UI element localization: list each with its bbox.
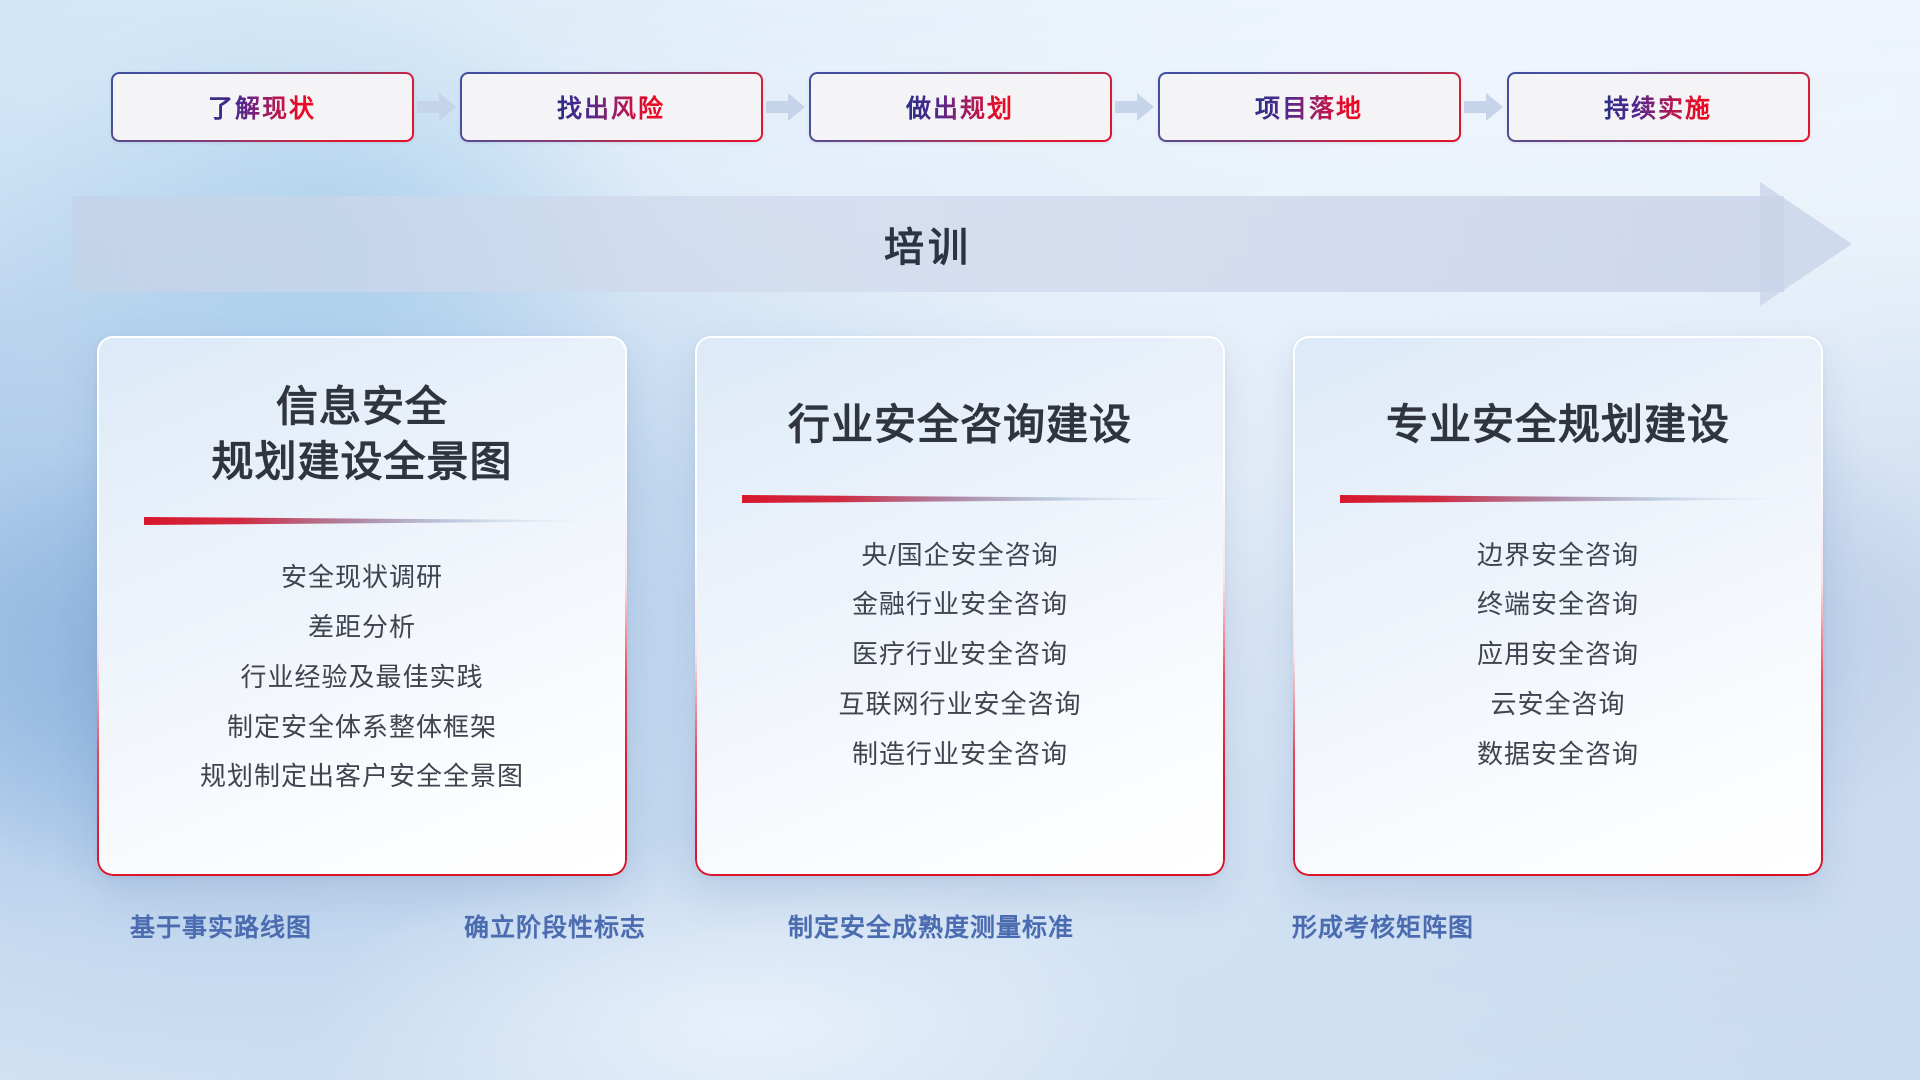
card-item-list: 央/国企安全咨询 金融行业安全咨询 医疗行业安全咨询 互联网行业安全咨询 制造行… (838, 539, 1081, 772)
card-divider (1336, 493, 1780, 505)
arrow-right-icon (763, 72, 809, 142)
list-item: 云安全咨询 (1490, 688, 1625, 722)
step-label-4: 项目落地 (1255, 89, 1363, 125)
footer-label-3: 制定安全成熟度测量标准 (788, 908, 1074, 944)
list-item: 安全现状调研 (281, 561, 443, 595)
list-item: 金融行业安全咨询 (852, 588, 1068, 622)
list-item: 终端安全咨询 (1477, 588, 1639, 622)
step-label-5: 持续实施 (1604, 89, 1712, 125)
step-box-2[interactable]: 找出风险 (460, 72, 763, 142)
card-title: 信息安全 规划建设全景图 (211, 380, 512, 489)
arrow-right-icon (1112, 72, 1158, 142)
footer-label-row: 基于事实路线图 确立阶段性标志 制定安全成熟度测量标准 形成考核矩阵图 (0, 908, 1920, 956)
list-item: 规划制定出客户安全全景图 (200, 760, 524, 794)
panorama-card[interactable]: 信息安全 规划建设全景图 安全现状调研 (97, 336, 627, 876)
footer-label-2: 确立阶段性标志 (464, 908, 646, 944)
list-item: 边界安全咨询 (1477, 539, 1639, 573)
step-box-4[interactable]: 项目落地 (1158, 72, 1461, 142)
list-item: 互联网行业安全咨询 (838, 688, 1081, 722)
step-box-5[interactable]: 持续实施 (1507, 72, 1810, 142)
card-row: 信息安全 规划建设全景图 安全现状调研 (0, 336, 1920, 876)
step-box-1[interactable]: 了解现状 (111, 72, 414, 142)
list-item: 制定安全体系整体框架 (227, 711, 497, 745)
banner-title: 培训 (72, 196, 1784, 292)
card-item-list: 安全现状调研 差距分析 行业经验及最佳实践 制定安全体系整体框架 规划制定出客户… (200, 561, 524, 794)
card-item-list: 边界安全咨询 终端安全咨询 应用安全咨询 云安全咨询 数据安全咨询 (1477, 539, 1639, 772)
industry-consulting-card[interactable]: 行业安全咨询建设 央/国企安全咨询 (695, 336, 1225, 876)
card-divider (140, 515, 584, 527)
professional-planning-card[interactable]: 专业安全规划建设 边界安全咨询 (1293, 336, 1823, 876)
arrow-right-icon (1461, 72, 1507, 142)
step-label-2: 找出风险 (557, 89, 665, 125)
card-title: 专业安全规划建设 (1386, 398, 1730, 453)
process-step-row: 了解现状 找出风险 做出规划 项目落地 持续实施 (0, 72, 1920, 142)
step-box-3[interactable]: 做出规划 (809, 72, 1112, 142)
step-label-3: 做出规划 (906, 89, 1014, 125)
training-banner: 培训 (72, 196, 1848, 292)
list-item: 制造行业安全咨询 (852, 738, 1068, 772)
step-label-1: 了解现状 (208, 89, 316, 125)
arrow-right-icon (414, 72, 460, 142)
footer-label-1: 基于事实路线图 (130, 908, 312, 944)
footer-label-4: 形成考核矩阵图 (1292, 908, 1474, 944)
card-title: 行业安全咨询建设 (788, 398, 1132, 453)
list-item: 应用安全咨询 (1477, 638, 1639, 672)
card-divider (738, 493, 1182, 505)
list-item: 差距分析 (308, 611, 416, 645)
list-item: 医疗行业安全咨询 (852, 638, 1068, 672)
list-item: 数据安全咨询 (1477, 738, 1639, 772)
list-item: 央/国企安全咨询 (861, 539, 1058, 573)
list-item: 行业经验及最佳实践 (240, 661, 483, 695)
